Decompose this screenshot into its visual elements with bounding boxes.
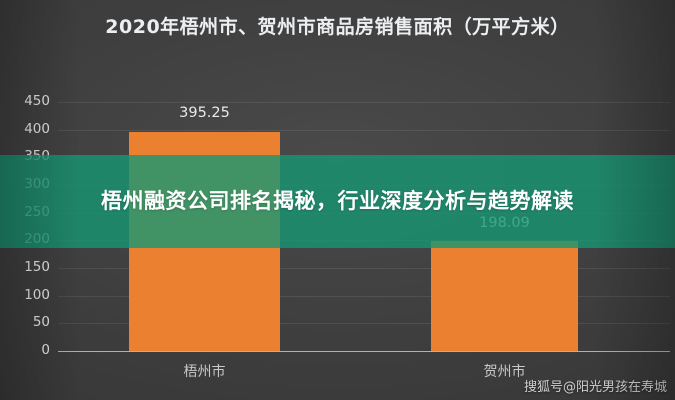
headline-overlay-text: 梧州融资公司排名揭秘，行业深度分析与趋势解读 xyxy=(28,186,648,217)
xtick-label-hezhou: 贺州市 xyxy=(431,364,578,380)
ytick-label-150: 150 xyxy=(6,261,50,275)
headline-overlay-banner: 梧州融资公司排名揭秘，行业深度分析与趋势解读 xyxy=(0,155,675,248)
bar-value-wuzhou: 395.25 xyxy=(129,106,280,121)
ytick-label-450: 450 xyxy=(6,95,50,109)
ytick-label-50: 50 xyxy=(6,316,50,330)
gridline-400 xyxy=(58,130,670,131)
chart-card: 2020年梧州市、贺州市商品房销售面积（万平方米） 450 400 350 30… xyxy=(0,0,675,400)
ytick-label-100: 100 xyxy=(6,289,50,303)
axis-baseline xyxy=(58,351,670,352)
ytick-label-400: 400 xyxy=(6,123,50,137)
gridline-450 xyxy=(58,102,670,103)
bar-hezhou[interactable] xyxy=(431,241,578,351)
watermark-text: 搜狐号@阳光男孩在寿城 xyxy=(524,380,667,395)
ytick-label-0: 0 xyxy=(6,344,50,358)
xtick-label-wuzhou: 梧州市 xyxy=(129,364,280,380)
